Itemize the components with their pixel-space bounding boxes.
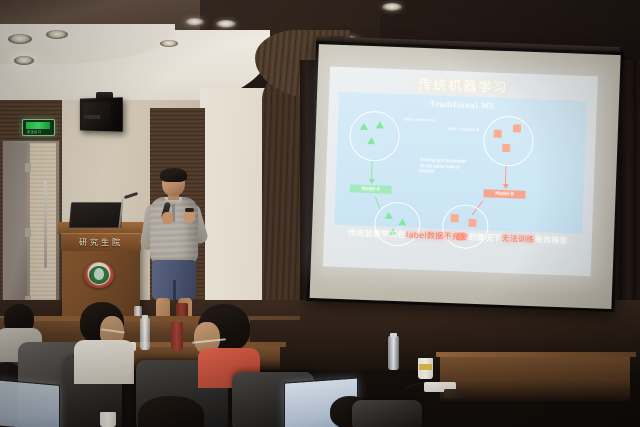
water-bottle [388, 336, 399, 370]
exit-sign-label: 安全出口 [27, 129, 41, 134]
domain-a-triangle [398, 218, 406, 225]
white-wall-strip [200, 88, 270, 333]
front-desk [440, 355, 630, 401]
domain-b-top-circle [483, 115, 535, 167]
water-bottle-cap [390, 333, 397, 337]
domain-b-arrow [505, 166, 507, 185]
audience-shirt [74, 340, 134, 384]
presenter-wristwatch [185, 208, 194, 212]
domain-a-arrow-head [368, 179, 374, 184]
domain-a-arrow [371, 161, 373, 180]
smartphone [444, 389, 466, 398]
front-desk-top [436, 352, 636, 357]
model-b-box: Model B [483, 189, 525, 199]
domain-b-square [513, 124, 521, 132]
projection-screen-surface: 传统机器学习 Traditional ML Task / domain A Ta… [310, 44, 621, 309]
audience-laptop[interactable] [0, 379, 60, 427]
slide-footer-highlight2: 无法训练 [501, 234, 535, 244]
task-domain-a-label: Task / domain A [404, 117, 435, 122]
domain-a-triangle [385, 212, 393, 219]
water-bottle [140, 318, 150, 350]
presenter-glasses-icon [164, 179, 183, 184]
domain-a-triangle [376, 121, 384, 128]
lectern-name-plate: 研究生院 [61, 233, 141, 251]
domain-a-top-circle [349, 110, 401, 162]
task-domain-b-label: Task / domain B [448, 127, 479, 132]
university-emblem-motif [94, 268, 104, 280]
thermos-flask [171, 322, 183, 350]
ceiling-downlight [14, 56, 34, 65]
slide-diagram-area: Traditional ML Task / domain A Task / do… [334, 92, 587, 234]
door-glass-left [5, 143, 27, 323]
water-bottle-cap [142, 315, 148, 319]
domain-b-square [450, 214, 458, 222]
projected-slide: 传统机器学习 Traditional ML Task / domain A Ta… [323, 67, 598, 277]
presenter-left-hand [162, 212, 173, 224]
door-handle[interactable] [44, 180, 47, 268]
wall-loudspeaker-icon [80, 97, 123, 131]
desk-cup [100, 412, 116, 427]
slide-footer-part1: 传统监督学习在 [348, 228, 406, 239]
ceiling-downlight [8, 34, 32, 44]
ceiling-downlight [216, 20, 236, 28]
training-note-label: Training and evaluation on the same task… [419, 157, 472, 175]
lectern-name-plate-text: 研究生院 [79, 237, 123, 248]
ceiling-downlight [46, 30, 68, 39]
lecture-hall-photo: 安全出口 研究生院 [0, 0, 640, 427]
coffee-cup-band [419, 364, 432, 370]
door-glass-right [30, 143, 56, 323]
model-a-output-arrow [375, 197, 381, 210]
slide-footer-part3: 有效模型 [535, 235, 569, 245]
ceiling-downlight [185, 18, 204, 26]
pen [405, 381, 424, 388]
presenter-shorts-seam [173, 280, 176, 300]
domain-a-triangle [367, 137, 375, 144]
emergency-exit-sign: 安全出口 [22, 119, 55, 136]
audience-head [138, 396, 204, 427]
slide-footer-highlight1: label数据不充分 [406, 230, 469, 241]
ceiling-downlight [160, 40, 178, 47]
domain-b-square [502, 144, 510, 152]
lectern-laptop[interactable] [69, 202, 123, 228]
model-a-box: Model A [349, 184, 391, 194]
door-hinge [25, 163, 31, 172]
projection-screen: 传统机器学习 Traditional ML Task / domain A Ta… [306, 41, 623, 312]
domain-a-triangle [360, 123, 368, 130]
audience-area [0, 300, 640, 427]
domain-b-arrow-head [502, 184, 508, 189]
audience-chair [352, 400, 422, 427]
door-hinge [25, 228, 31, 237]
ceiling-downlight [382, 3, 402, 11]
domain-b-square [468, 219, 476, 227]
loudspeaker-grill [84, 115, 100, 119]
domain-b-square [494, 130, 502, 138]
slide-footer-part2: 的情况下 [468, 233, 502, 243]
